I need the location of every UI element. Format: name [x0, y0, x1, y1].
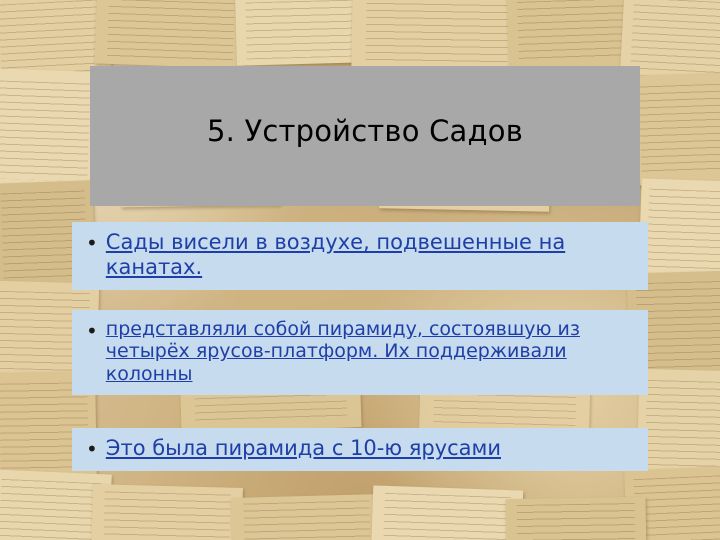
paper-scrap	[637, 369, 720, 478]
paper-scrap	[0, 68, 100, 192]
list-item: • представляли собой пирамиду, состоявшу…	[86, 318, 634, 385]
page-title: 5. Устройство Садов	[90, 114, 640, 148]
paper-scrap	[231, 494, 383, 540]
bullet-block: • представляли собой пирамиду, состоявшу…	[72, 310, 648, 395]
bullet-dot-icon: •	[86, 230, 98, 255]
paper-scrap	[91, 484, 243, 540]
paper-scrap	[638, 178, 720, 279]
title-band: 5. Устройство Садов	[90, 66, 640, 206]
list-item: • Сады висели в воздухе, подвешенные на …	[86, 230, 634, 280]
list-item: • Это была пирамида с 10-ю ярусами	[86, 436, 634, 461]
paper-scrap	[630, 72, 720, 186]
paper-scrap	[507, 0, 640, 70]
bullet-block: • Это была пирамида с 10-ю ярусами	[72, 428, 648, 471]
bullet-text: Сады висели в воздухе, подвешенные на ка…	[106, 230, 634, 280]
bullet-text: Это была пирамида с 10-ю ярусами	[106, 436, 501, 461]
bullet-dot-icon: •	[86, 436, 98, 461]
bullet-dot-icon: •	[86, 318, 98, 343]
paper-scrap	[351, 0, 522, 75]
paper-scrap	[371, 485, 523, 540]
paper-scrap	[95, 0, 248, 69]
slide: 5. Устройство Садов • Сады висели в возд…	[0, 0, 720, 540]
paper-scrap	[235, 0, 367, 66]
paper-scrap	[505, 497, 646, 540]
bullet-text: представляли собой пирамиду, состоявшую …	[106, 318, 634, 385]
bullet-block: • Сады висели в воздухе, подвешенные на …	[72, 222, 648, 290]
